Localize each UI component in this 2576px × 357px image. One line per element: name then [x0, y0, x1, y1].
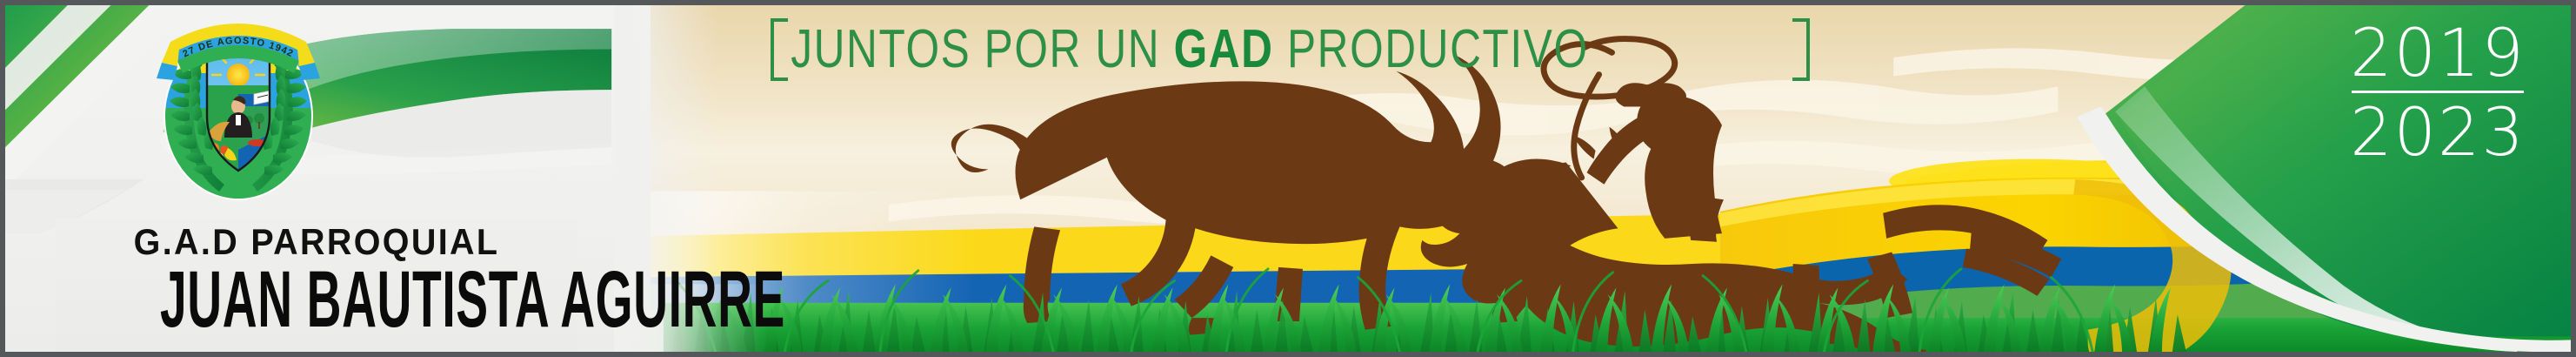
- year-from: 2019: [2346, 19, 2529, 87]
- year-to: 2023: [2346, 98, 2529, 166]
- period-panel: [5, 5, 2571, 352]
- banner-root: 2019 2023: [0, 0, 2576, 357]
- period-years: 2019 2023: [2346, 19, 2529, 166]
